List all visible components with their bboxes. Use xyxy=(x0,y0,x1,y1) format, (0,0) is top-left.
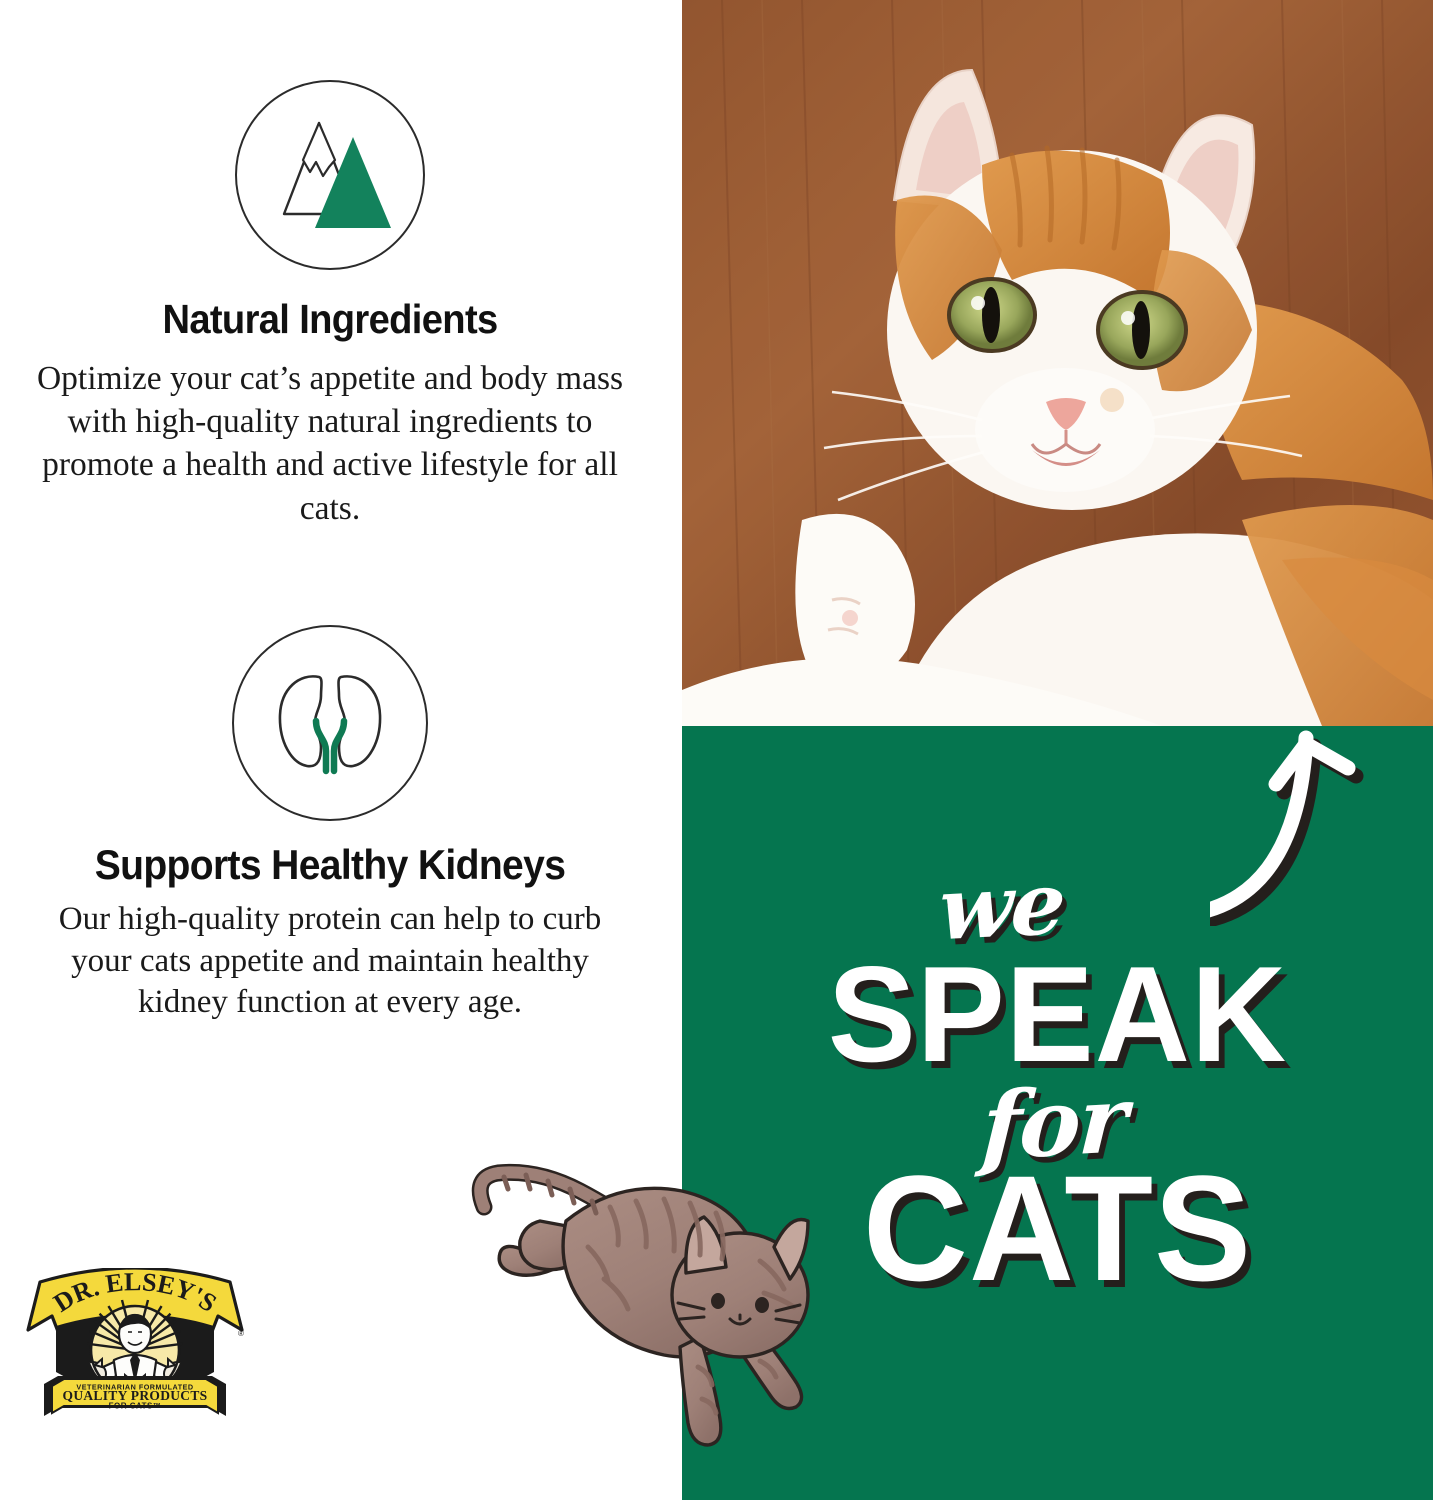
registered-trademark-symbol: ® xyxy=(238,1329,244,1338)
logo-ribbon-line-3: FOR CATS™ xyxy=(109,1402,162,1411)
kidneys-icon xyxy=(232,625,428,821)
orange-white-cat-photo xyxy=(682,0,1433,726)
feature-natural-ingredients: Natural Ingredients Optimize your cat’s … xyxy=(0,80,660,530)
mountains-icon xyxy=(235,80,425,270)
feature-body: Optimize your cat’s appetite and body ma… xyxy=(20,357,640,530)
product-feature-banner: Natural Ingredients Optimize your cat’s … xyxy=(0,0,1433,1500)
headline-word-speak: SPEAK xyxy=(693,952,1421,1077)
feature-heading: Natural Ingredients xyxy=(23,296,637,343)
feature-heading: Supports Healthy Kidneys xyxy=(23,841,637,889)
leaping-tabby-cat-illustration xyxy=(468,1155,858,1455)
feature-supports-healthy-kidneys: Supports Healthy Kidneys Our high-qualit… xyxy=(0,625,660,1024)
feature-body: Our high-quality protein can help to cur… xyxy=(50,899,610,1024)
dr-elseys-logo: DR. ELSEY'S ® VETERINARIAN FORMULATED QU… xyxy=(22,1268,248,1428)
